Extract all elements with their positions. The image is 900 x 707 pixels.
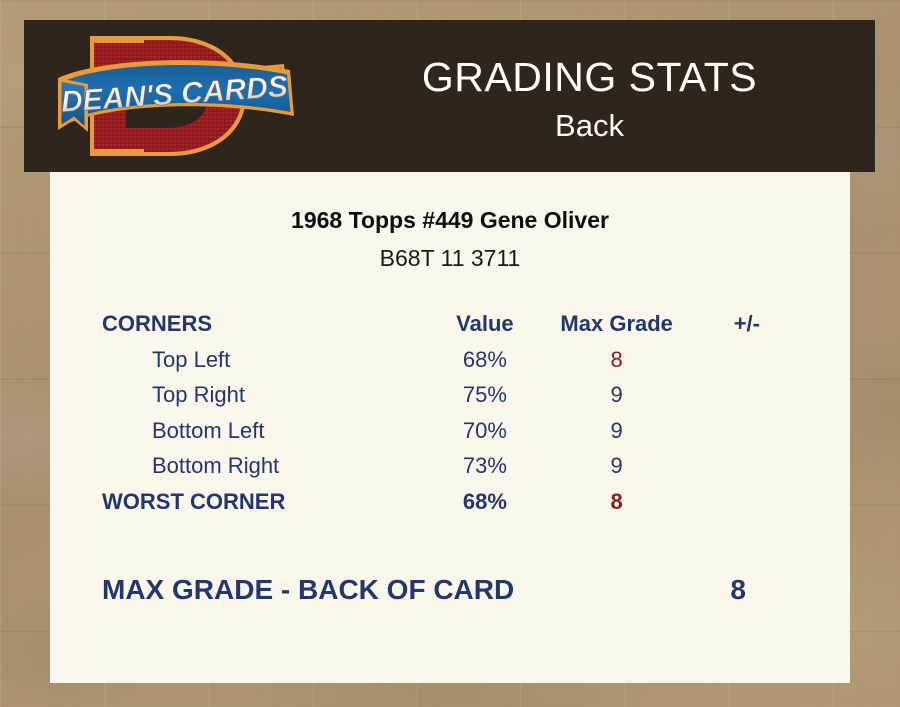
column-header-delta: +/- bbox=[692, 306, 802, 342]
page-subtitle: Back bbox=[324, 110, 855, 141]
final-grade-label: MAX GRADE - BACK OF CARD bbox=[102, 574, 514, 606]
row-label: WORST CORNER bbox=[102, 484, 428, 520]
row-value: 70% bbox=[428, 413, 542, 449]
card-code: B68T 11 3711 bbox=[50, 245, 850, 272]
row-max-grade: 9 bbox=[542, 377, 692, 413]
table-row: Bottom Right73%9 bbox=[102, 448, 802, 484]
column-header-value: Value bbox=[428, 306, 542, 342]
final-grade-row: MAX GRADE - BACK OF CARD 8 bbox=[102, 574, 802, 606]
row-value: 68% bbox=[428, 342, 542, 378]
row-label: Bottom Left bbox=[102, 413, 428, 449]
content-panel: 1968 Topps #449 Gene Oliver B68T 11 3711… bbox=[50, 172, 850, 683]
row-max-grade: 8 bbox=[542, 484, 692, 520]
row-delta bbox=[692, 484, 802, 520]
row-delta bbox=[692, 448, 802, 484]
row-delta bbox=[692, 413, 802, 449]
card-title: 1968 Topps #449 Gene Oliver bbox=[50, 207, 850, 234]
table-row: Bottom Left70%9 bbox=[102, 413, 802, 449]
grading-table: CORNERS Value Max Grade +/- Top Left68%8… bbox=[102, 306, 802, 519]
row-label: Bottom Right bbox=[102, 448, 428, 484]
table-row: WORST CORNER68%8 bbox=[102, 484, 802, 520]
row-value: 68% bbox=[428, 484, 542, 520]
row-delta bbox=[692, 342, 802, 378]
deans-cards-logo: DEAN'S CARDS bbox=[44, 24, 314, 168]
row-max-grade: 9 bbox=[542, 448, 692, 484]
page-title: GRADING STATS bbox=[324, 57, 855, 98]
final-grade-value: 8 bbox=[730, 574, 746, 606]
header-titles: GRADING STATS Back bbox=[324, 20, 875, 172]
row-value: 75% bbox=[428, 377, 542, 413]
table-row: Top Left68%8 bbox=[102, 342, 802, 378]
row-max-grade: 8 bbox=[542, 342, 692, 378]
row-max-grade: 9 bbox=[542, 413, 692, 449]
row-delta bbox=[692, 377, 802, 413]
grading-table-body: Top Left68%8Top Right75%9Bottom Left70%9… bbox=[102, 342, 802, 520]
table-row: Top Right75%9 bbox=[102, 377, 802, 413]
header-bar: DEAN'S CARDS GRADING STATS Back bbox=[24, 20, 875, 172]
row-value: 73% bbox=[428, 448, 542, 484]
column-header-max-grade: Max Grade bbox=[542, 306, 692, 342]
table-header-row: CORNERS Value Max Grade +/- bbox=[102, 306, 802, 342]
column-header-section: CORNERS bbox=[102, 306, 428, 342]
row-label: Top Right bbox=[102, 377, 428, 413]
row-label: Top Left bbox=[102, 342, 428, 378]
